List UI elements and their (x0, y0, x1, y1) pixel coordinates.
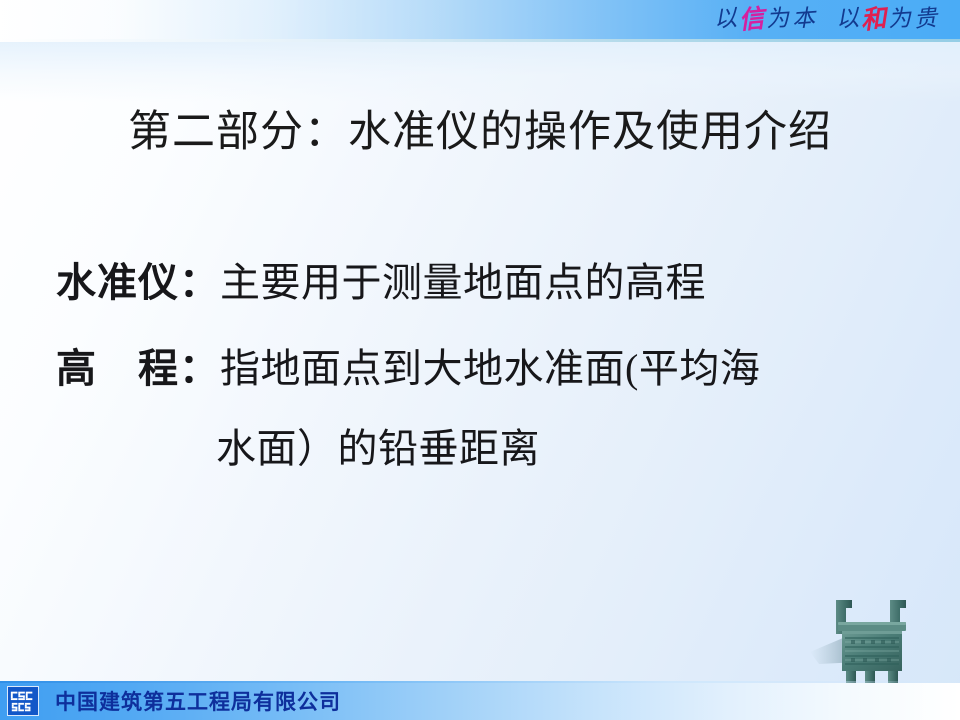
cscec-logo-icon (7, 686, 39, 716)
motto-char-7: 为 (887, 7, 913, 32)
footer-company-name: 中国建筑第五工程局有限公司 (55, 686, 341, 716)
body-line-1-text: 主要用于测量地面点的高程 (220, 260, 706, 305)
slide-body: 水准仪：主要用于测量地面点的高程 高 程：指地面点到大地水准面(平均海 水面）的… (56, 255, 916, 469)
slide-title: 第二部分：水准仪的操作及使用介绍 (120, 104, 840, 161)
motto-char-6: 和 (860, 5, 889, 33)
motto-char-4: 本 (791, 7, 817, 32)
body-line-2-term: 高 程： (56, 346, 220, 391)
header-motto-calligraphy: 以 信 为 本 以 和 为 贵 (714, 1, 938, 37)
body-line-1-term: 水准仪： (56, 260, 220, 305)
header-band-fade (0, 42, 960, 102)
slide-canvas: 以 信 为 本 以 和 为 贵 第二部分：水准仪的操作及使用介绍 水准仪：主要用… (0, 0, 960, 720)
body-line-1: 水准仪：主要用于测量地面点的高程 (56, 263, 916, 303)
motto-char-5: 以 (835, 7, 861, 32)
motto-char-1: 以 (713, 7, 739, 32)
body-line-2: 高 程：指地面点到大地水准面(平均海 (56, 349, 916, 389)
bronze-ding-icon (805, 578, 930, 696)
motto-char-3: 为 (765, 7, 791, 32)
motto-char-8: 贵 (913, 7, 939, 32)
motto-char-2: 信 (738, 5, 767, 33)
body-line-3: 水面）的铅垂距离 (56, 429, 916, 469)
body-line-2-text: 指地面点到大地水准面(平均海 (220, 346, 760, 391)
